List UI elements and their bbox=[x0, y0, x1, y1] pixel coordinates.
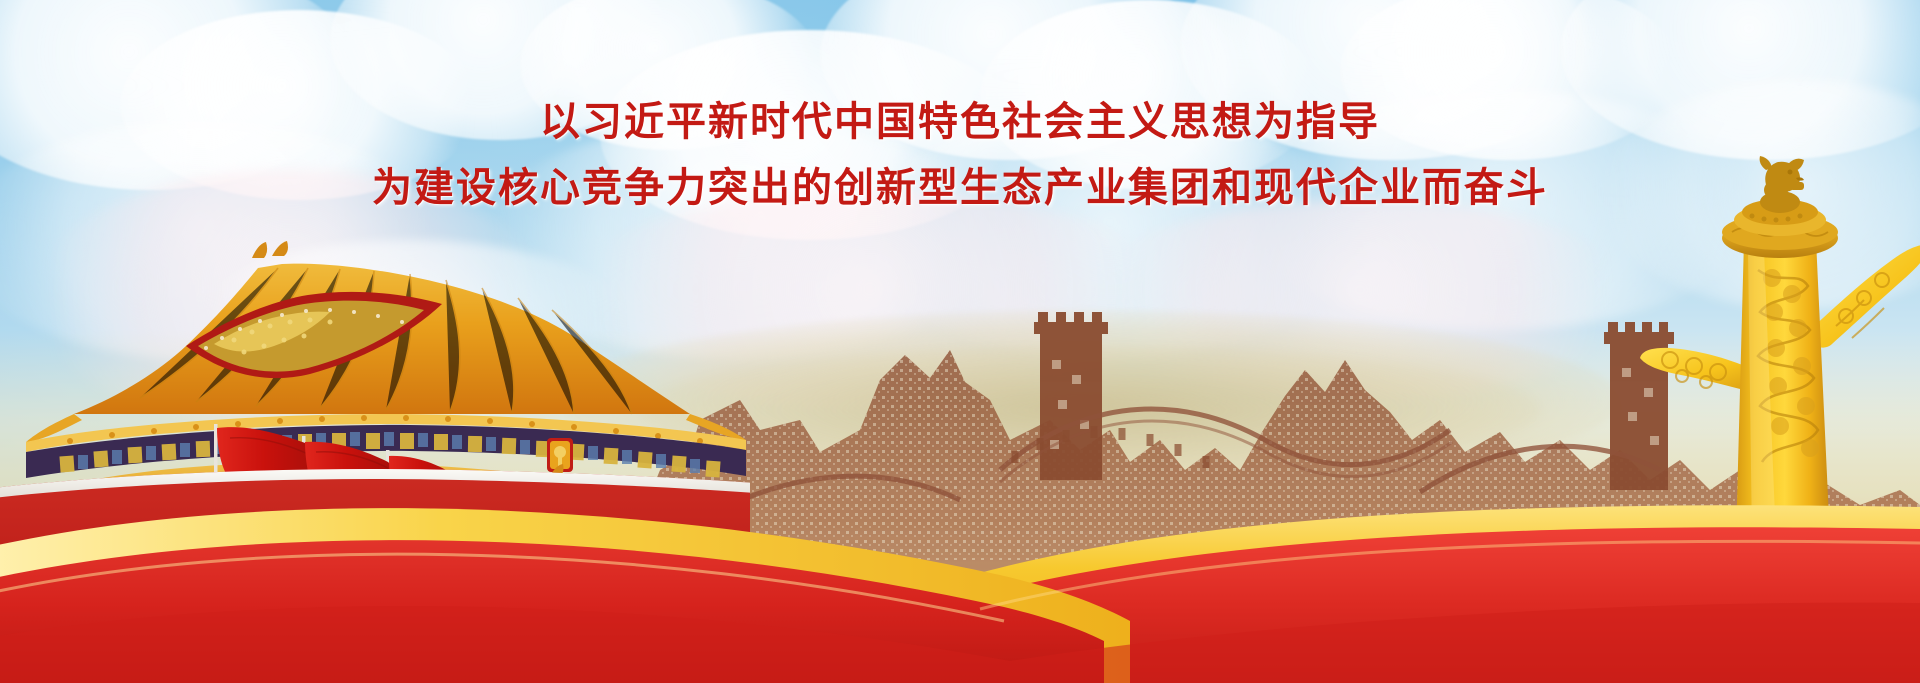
propaganda-banner: 中华人民共和国万岁 世界人民大团结万岁 bbox=[0, 0, 1920, 683]
red-ribbon bbox=[0, 463, 1920, 683]
